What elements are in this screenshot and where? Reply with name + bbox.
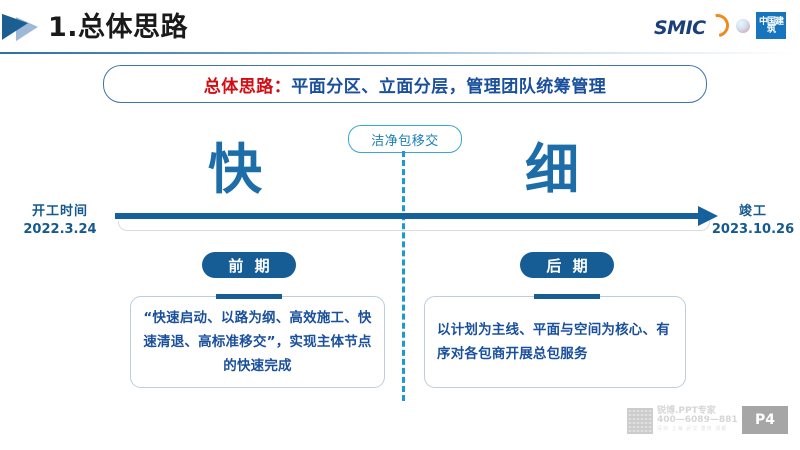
- watermark-phone: 400—6089—881: [657, 416, 738, 425]
- phase-divider-dashed-line: [402, 151, 405, 401]
- qr-code-icon: [627, 408, 653, 434]
- phase-description-box-early: “快速启动、以路为纲、高效施工、快速清退、高标准移交”，实现主体节点的快速完成: [130, 296, 385, 388]
- timeline-start-title: 开工时间: [12, 203, 108, 221]
- stage-pill-early: 前 期: [202, 252, 296, 278]
- milestone-badge: 洁净包移交: [348, 125, 462, 153]
- cscec-logo: 中国建筑: [756, 12, 786, 39]
- slide-canvas: 1.总体思路 SMIC 中国建筑 总体思路： 平面分区、立面分层，管理团队统筹管…: [0, 0, 800, 450]
- banner-label-blue: 平面分区、立面分层，管理团队统筹管理: [291, 72, 606, 97]
- stage-pill-late: 后 期: [520, 252, 614, 278]
- phase-keyword-late: 细: [525, 140, 579, 200]
- smic-logo-text: SMIC: [654, 17, 706, 39]
- watermark-text: 锐博.PPT专家 400—6089—881 深圳 上海 武汉 重庆 成都: [657, 407, 738, 434]
- slide-header: 1.总体思路 SMIC 中国建筑: [0, 0, 800, 56]
- cscec-logo-glyph: 中国建筑: [756, 18, 786, 34]
- phase-description-text-late: 以计划为主线、平面与空间为核心、有序对各包商开展总包服务: [437, 318, 673, 366]
- sphere-icon: [736, 19, 750, 33]
- timeline-end-date: 2023.10.26: [708, 221, 798, 239]
- chevron-decor-front-icon: [2, 10, 28, 40]
- timeline-start-date: 2022.3.24: [12, 221, 108, 239]
- timeline-axis: [115, 213, 700, 219]
- watermark-subtext: 深圳 上海 武汉 重庆 成都: [657, 425, 738, 434]
- brand-logos: SMIC 中国建筑: [654, 12, 786, 39]
- header-divider: [0, 52, 800, 54]
- footer-watermark: 锐博.PPT专家 400—6089—881 深圳 上海 武汉 重庆 成都: [627, 407, 738, 434]
- timeline-axis-shadow: [118, 221, 710, 231]
- page-number-badge: P4: [742, 406, 788, 434]
- phase-description-box-late: 以计划为主线、平面与空间为核心、有序对各包商开展总包服务: [424, 296, 686, 388]
- timeline-end-label: 竣工 2023.10.26: [708, 203, 798, 239]
- phase-keyword-early: 快: [208, 140, 262, 200]
- phase-box-cap-early: [216, 294, 282, 299]
- phase-box-cap-late: [534, 294, 600, 299]
- timeline-end-title: 竣工: [708, 203, 798, 221]
- swoosh-icon: [701, 9, 733, 41]
- page-title: 1.总体思路: [48, 8, 188, 48]
- banner-label-red: 总体思路：: [204, 72, 292, 97]
- phase-description-text-early: “快速启动、以路为纲、高效施工、快速清退、高标准移交”，实现主体节点的快速完成: [143, 306, 372, 378]
- smic-logo: SMIC: [654, 13, 730, 39]
- overview-banner: 总体思路： 平面分区、立面分层，管理团队统筹管理: [103, 65, 707, 103]
- timeline-start-label: 开工时间 2022.3.24: [12, 203, 108, 239]
